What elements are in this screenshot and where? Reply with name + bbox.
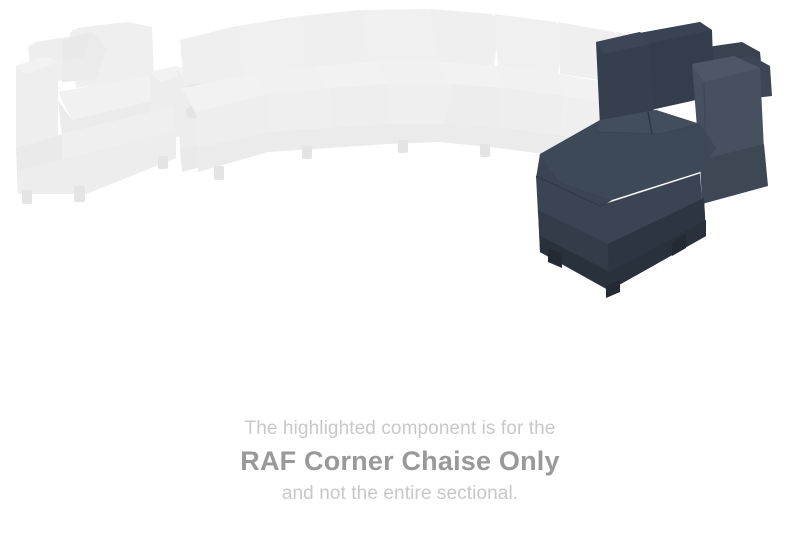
- caption-line-1: The highlighted component is for the: [0, 415, 800, 442]
- caption-line-2-product-name: RAF Corner Chaise Only: [0, 442, 800, 480]
- product-highlight-page: The highlighted component is for the RAF…: [0, 0, 800, 533]
- sectional-illustration-svg: [0, 0, 800, 400]
- caption-block: The highlighted component is for the RAF…: [0, 415, 800, 507]
- caption-line-3: and not the entire sectional.: [0, 480, 800, 507]
- ghost-laf-armchair: [16, 22, 190, 204]
- sectional-illustration: [0, 0, 800, 400]
